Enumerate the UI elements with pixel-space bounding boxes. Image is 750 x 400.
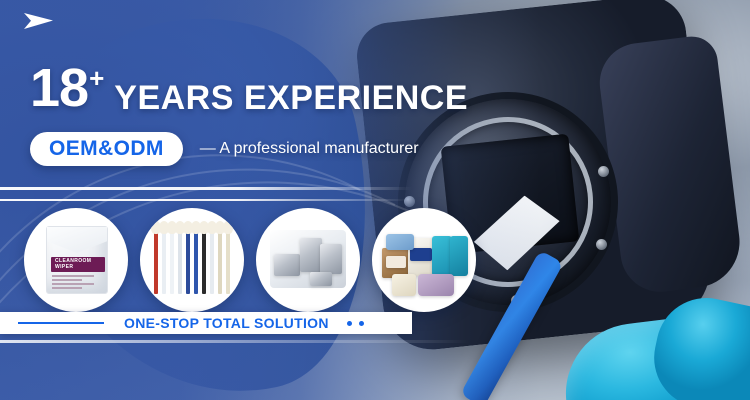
product-thumbnail-packaged-wipes[interactable] (256, 208, 360, 312)
swab-group (152, 222, 232, 296)
subtitle-row: OEM&ODM — A professional manufacturer (30, 132, 419, 166)
years-number: 18 (30, 63, 88, 114)
tagline: — A professional manufacturer (200, 140, 419, 158)
bag-fold (47, 227, 107, 253)
one-stop-solution-bar: ONE-STOP TOTAL SOLUTION (0, 312, 412, 334)
oem-odm-badge: OEM&ODM (30, 132, 183, 166)
product-thumbnail-cleanroom-swabs[interactable] (140, 208, 244, 312)
product-thumbnails: CLEANROOM WIPER (24, 208, 476, 312)
product-thumbnail-boxes-rolls[interactable] (372, 208, 476, 312)
promo-banner: 18 + YEARS EXPERIENCE OEM&ODM — A profes… (0, 0, 750, 400)
bag-text-lines (52, 275, 104, 291)
headline-rest: YEARS EXPERIENCE (114, 79, 468, 118)
arrow-right-icon (22, 10, 56, 32)
bag-label: CLEANROOM WIPER (51, 257, 105, 272)
plus-sign: + (89, 65, 104, 91)
bar-dots (347, 321, 364, 326)
wiper-bag: CLEANROOM WIPER (46, 226, 108, 294)
one-stop-solution-text: ONE-STOP TOTAL SOLUTION (124, 315, 329, 331)
bottom-accent-strip (0, 340, 470, 343)
divider-line-bottom (0, 199, 408, 201)
headline: 18 + YEARS EXPERIENCE (30, 63, 468, 118)
bar-rule (18, 322, 104, 324)
divider-line-top (0, 187, 412, 190)
product-thumbnail-cleanroom-wiper[interactable]: CLEANROOM WIPER (24, 208, 128, 312)
bag-label-line2: WIPER (55, 265, 105, 271)
